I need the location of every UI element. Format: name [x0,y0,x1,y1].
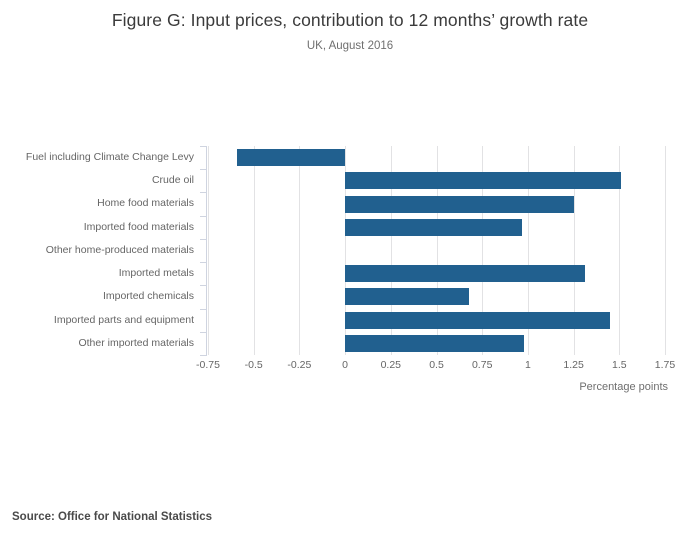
x-axis-tick-label: 1 [525,359,531,371]
x-axis-tick-label-group: -0.75-0.5-0.2500.250.50.7511.251.51.75 [0,359,700,375]
bar-row [208,309,665,332]
category-label: Other home-produced materials [0,239,198,262]
category-label: Home food materials [0,192,198,215]
category-label: Imported parts and equipment [0,309,198,332]
y-axis-tick [200,239,207,240]
category-label: Fuel including Climate Change Levy [0,146,198,169]
bar[interactable] [345,312,610,329]
bar-row [208,216,665,239]
x-axis-tick-label: 0.25 [381,359,401,371]
bar-row [208,146,665,169]
x-axis-tick-label: 1.75 [655,359,675,371]
y-axis-tick [200,262,207,263]
y-axis-tick [200,309,207,310]
y-axis-tick [200,169,207,170]
source-note: Source: Office for National Statistics [12,511,212,523]
bar[interactable] [345,172,621,189]
bar[interactable] [345,288,469,305]
x-axis-tick-label: 1.25 [563,359,583,371]
category-label-group: Fuel including Climate Change LevyCrude … [0,146,198,355]
x-axis-tick-label: -0.25 [287,359,311,371]
bar[interactable] [345,265,584,282]
y-axis-tick [200,216,207,217]
bar-row [208,285,665,308]
category-label: Imported metals [0,262,198,285]
bar[interactable] [345,196,574,213]
y-axis-spine [206,146,207,355]
gridline [665,146,666,355]
x-axis-tick-label: -0.5 [245,359,263,371]
x-axis-tick-label: 1.5 [612,359,627,371]
category-label: Imported chemicals [0,285,198,308]
bar[interactable] [237,149,345,166]
bar-group [208,146,665,355]
x-axis-title: Percentage points [0,381,668,393]
category-label: Other imported materials [0,332,198,355]
x-axis-tick-label: 0.75 [472,359,492,371]
y-axis-tick [200,146,207,147]
bar[interactable] [345,219,522,236]
y-axis-tick [200,192,207,193]
x-axis-tick-label: -0.75 [196,359,220,371]
bar[interactable] [345,335,524,352]
x-axis-tick-label: 0 [342,359,348,371]
y-axis-tick [200,285,207,286]
bar-row [208,239,665,262]
bar-row [208,169,665,192]
y-axis-tick [200,355,207,356]
y-axis-tick [200,332,207,333]
bar-row [208,262,665,285]
category-label: Crude oil [0,169,198,192]
chart-plot: Fuel including Climate Change LevyCrude … [0,0,700,549]
bar-row [208,332,665,355]
x-axis-tick-label: 0.5 [429,359,444,371]
category-label: Imported food materials [0,216,198,239]
bar-row [208,192,665,215]
